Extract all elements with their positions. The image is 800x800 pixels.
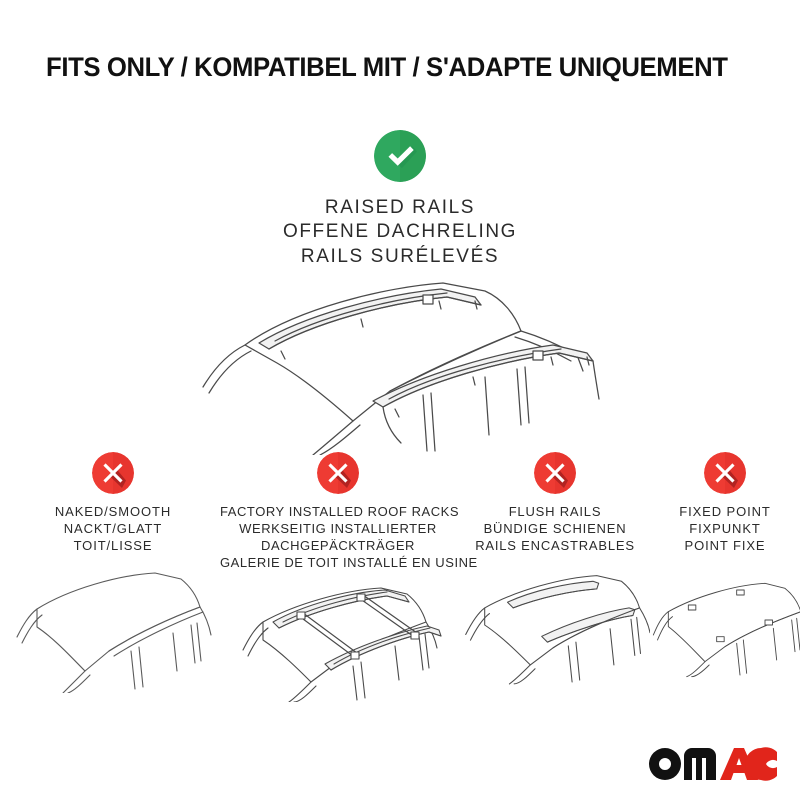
fixed-point-labels: FIXED POINT FIXPUNKT POINT FIXE [650, 504, 800, 555]
x-circle-icon [534, 452, 576, 494]
compatible-badge-wrap [0, 130, 800, 182]
incompatible-item-factory-rack: FACTORY INSTALLED ROOF RACKS WERKSEITIG … [220, 452, 456, 702]
fixed-point-label-en: FIXED POINT [650, 504, 800, 521]
fixed-point-label-fr: POINT FIXE [650, 538, 800, 555]
omac-logo [646, 746, 778, 782]
compatible-label-fr: RAILS SURÉLEVÉS [0, 245, 800, 269]
naked-smooth-label-fr: TOIT/LISSE [4, 538, 222, 555]
logo-letter-m [684, 748, 716, 780]
logo-letter-o [649, 748, 681, 780]
compatible-labels: RAISED RAILS OFFENE DACHRELING RAILS SUR… [0, 196, 800, 269]
flush-rails-label-de: BÜNDIGE SCHIENEN [460, 521, 650, 538]
car-roof-naked-smooth-illustration [4, 563, 222, 693]
x-circle-icon [317, 452, 359, 494]
factory-rack-labels: FACTORY INSTALLED ROOF RACKS WERKSEITIG … [220, 504, 456, 572]
naked-smooth-labels: NAKED/SMOOTH NACKT/GLATT TOIT/LISSE [4, 504, 222, 555]
car-roof-flush-rails-illustration [460, 563, 650, 687]
page-title: FITS ONLY / KOMPATIBEL MIT / S'ADAPTE UN… [46, 52, 744, 83]
factory-rack-badge-wrap [220, 452, 456, 494]
incompatible-item-fixed-point: FIXED POINT FIXPUNKT POINT FIXE [650, 452, 800, 687]
fixed-point-badge-wrap [650, 452, 800, 494]
incompatible-item-flush-rails: FLUSH RAILS BÜNDIGE SCHIENEN RAILS ENCAS… [460, 452, 650, 687]
flush-rails-badge-wrap [460, 452, 650, 494]
x-circle-icon [92, 452, 134, 494]
car-roof-raised-rails-illustration [185, 275, 625, 455]
naked-smooth-label-de: NACKT/GLATT [4, 521, 222, 538]
infographic-root: FITS ONLY / KOMPATIBEL MIT / S'ADAPTE UN… [0, 0, 800, 800]
incompatible-item-naked-smooth: NAKED/SMOOTH NACKT/GLATT TOIT/LISSE [4, 452, 222, 693]
check-circle-icon [374, 130, 426, 182]
factory-rack-label-de-1: WERKSEITIG INSTALLIERTER [220, 521, 456, 538]
fixed-point-label-de: FIXPUNKT [650, 521, 800, 538]
naked-smooth-badge-wrap [4, 452, 222, 494]
car-roof-fixed-point-illustration [650, 563, 800, 687]
factory-rack-label-fr: GALERIE DE TOIT INSTALLÉ EN USINE [220, 555, 456, 572]
x-circle-icon [704, 452, 746, 494]
incompatible-section: NAKED/SMOOTH NACKT/GLATT TOIT/LISSE [0, 452, 800, 702]
compatible-label-en: RAISED RAILS [0, 196, 800, 220]
flush-rails-label-fr: RAILS ENCASTRABLES [460, 538, 650, 555]
naked-smooth-label-en: NAKED/SMOOTH [4, 504, 222, 521]
factory-rack-label-en: FACTORY INSTALLED ROOF RACKS [220, 504, 456, 521]
compatible-label-de: OFFENE DACHRELING [0, 220, 800, 244]
compatible-section: RAISED RAILS OFFENE DACHRELING RAILS SUR… [0, 130, 800, 269]
flush-rails-label-en: FLUSH RAILS [460, 504, 650, 521]
car-roof-factory-rack-illustration [220, 580, 456, 702]
factory-rack-label-de-2: DACHGEPÄCKTRÄGER [220, 538, 456, 555]
flush-rails-labels: FLUSH RAILS BÜNDIGE SCHIENEN RAILS ENCAS… [460, 504, 650, 555]
